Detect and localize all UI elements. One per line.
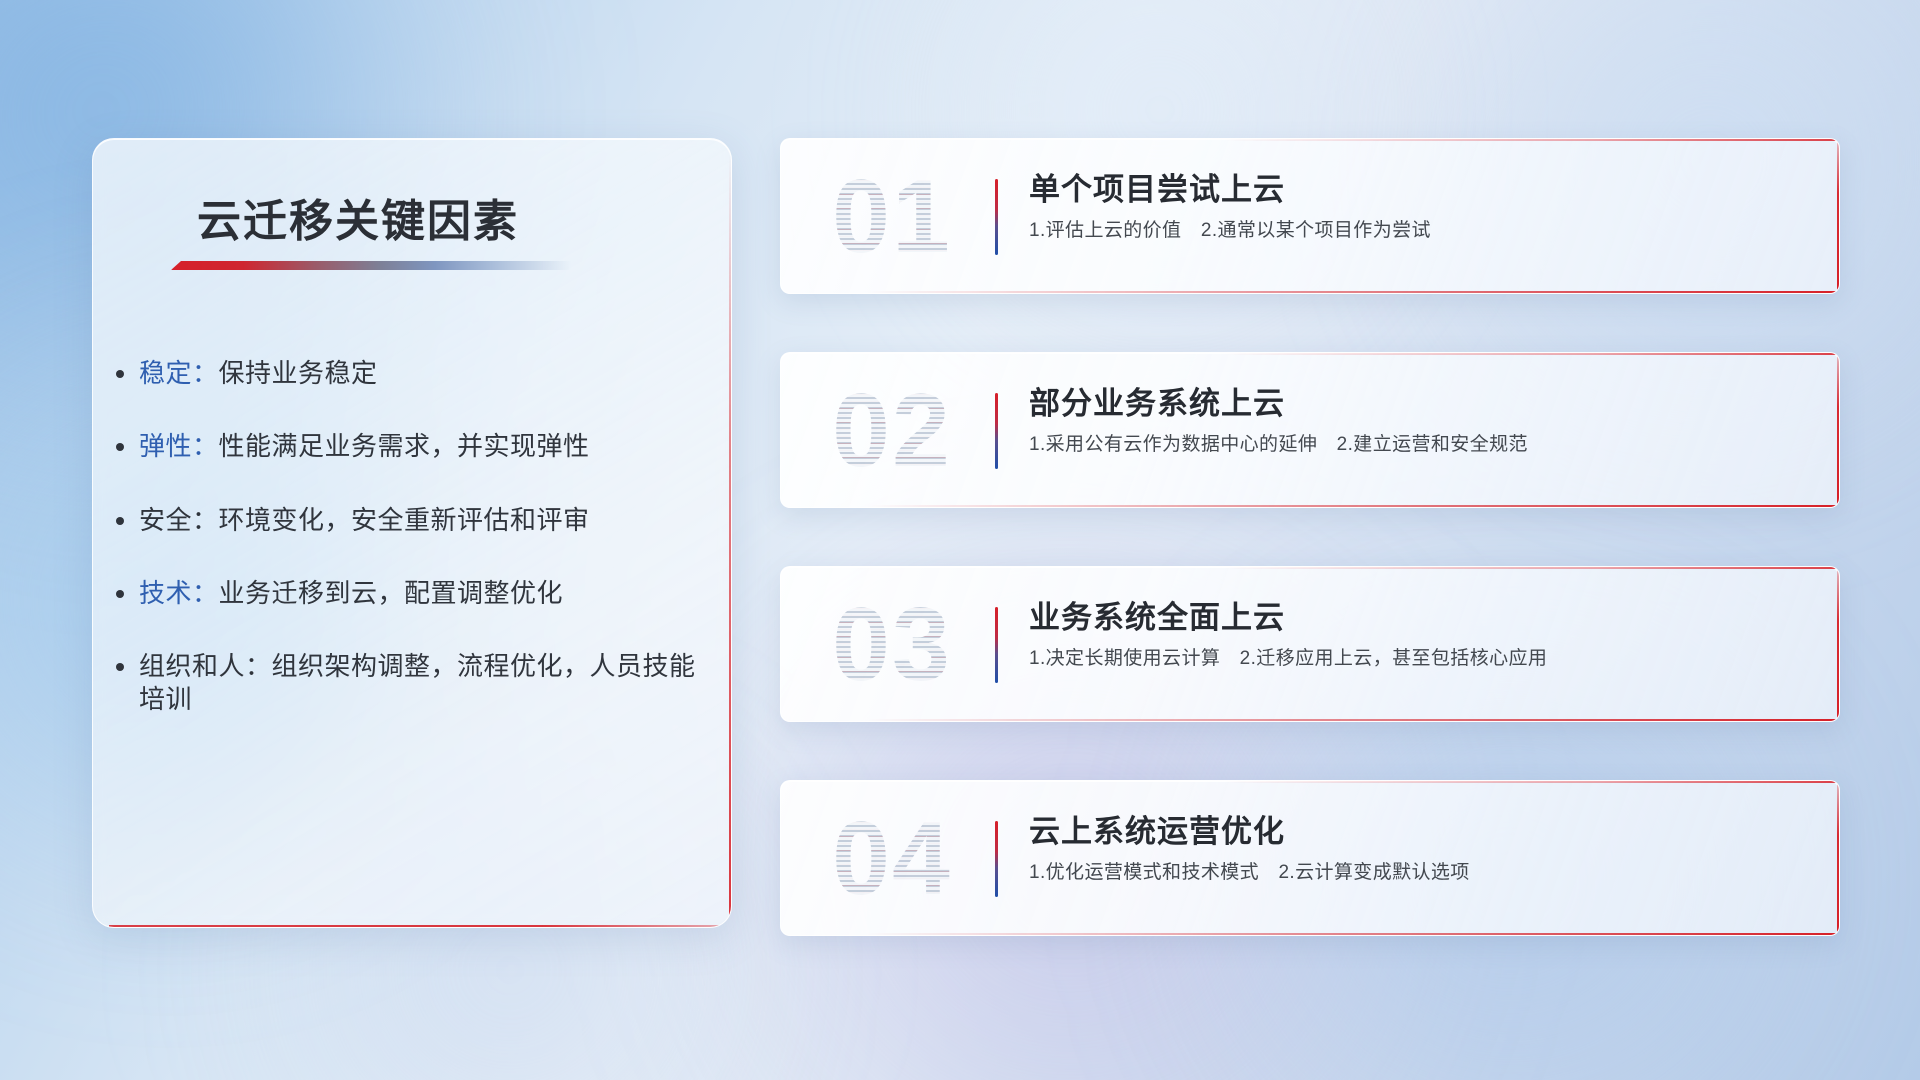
key-factor-item: 安全：环境变化，安全重新评估和评审 bbox=[139, 504, 697, 537]
step-title: 云上系统运营优化 bbox=[1029, 813, 1811, 851]
step-body: 单个项目尝试上云1.评估上云的价值 2.通常以某个项目作为尝试 bbox=[1029, 171, 1811, 244]
card-bottom-accent bbox=[866, 933, 1839, 935]
card-bottom-accent bbox=[866, 291, 1839, 293]
step-description: 1.决定长期使用云计算 2.迁移应用上云，甚至包括核心应用 bbox=[1029, 647, 1811, 672]
card-right-accent bbox=[1837, 781, 1839, 935]
key-factor-item: 技术：业务迁移到云，配置调整优化 bbox=[139, 577, 697, 610]
step-number-glyph: 01 bbox=[817, 153, 967, 281]
card-top-accent bbox=[1225, 139, 1839, 141]
card-top-accent bbox=[1225, 567, 1839, 569]
key-factor-item: 稳定：保持业务稳定 bbox=[139, 357, 697, 390]
step-body: 云上系统运营优化1.优化运营模式和技术模式 2.云计算变成默认选项 bbox=[1029, 813, 1811, 886]
key-factors-panel: 云迁移关键因素 稳定：保持业务稳定弹性：性能满足业务需求，并实现弹性安全：环境变… bbox=[92, 138, 732, 928]
slide-stage: 云迁移关键因素 稳定：保持业务稳定弹性：性能满足业务需求，并实现弹性安全：环境变… bbox=[0, 0, 1920, 1080]
step-number-glyph: 02 bbox=[817, 367, 967, 495]
step-body: 部分业务系统上云1.采用公有云作为数据中心的延伸 2.建立运营和安全规范 bbox=[1029, 385, 1811, 458]
key-factors-list: 稳定：保持业务稳定弹性：性能满足业务需求，并实现弹性安全：环境变化，安全重新评估… bbox=[139, 357, 697, 717]
title-underline-gradient bbox=[171, 261, 571, 270]
migration-step-card[interactable]: 03业务系统全面上云1.决定长期使用云计算 2.迁移应用上云，甚至包括核心应用 bbox=[780, 566, 1840, 722]
step-accent-bar bbox=[995, 821, 998, 897]
page-title: 云迁移关键因素 bbox=[197, 185, 519, 249]
step-body: 业务系统全面上云1.决定长期使用云计算 2.迁移应用上云，甚至包括核心应用 bbox=[1029, 599, 1811, 672]
migration-step-card[interactable]: 02部分业务系统上云1.采用公有云作为数据中心的延伸 2.建立运营和安全规范 bbox=[780, 352, 1840, 508]
key-factor-label: 技术： bbox=[139, 578, 219, 608]
key-factor-label: 弹性： bbox=[139, 431, 219, 461]
step-accent-bar bbox=[995, 179, 998, 255]
key-factor-value: 业务迁移到云，配置调整优化 bbox=[219, 578, 564, 608]
step-accent-bar bbox=[995, 607, 998, 683]
key-factor-value: 保持业务稳定 bbox=[219, 358, 378, 388]
key-factor-label: 组织和人： bbox=[139, 651, 272, 681]
step-accent-bar bbox=[995, 393, 998, 469]
card-right-accent bbox=[1837, 353, 1839, 507]
step-number-glyph: 03 bbox=[817, 581, 967, 709]
migration-step-card[interactable]: 04云上系统运营优化1.优化运营模式和技术模式 2.云计算变成默认选项 bbox=[780, 780, 1840, 936]
card-right-accent bbox=[1837, 139, 1839, 293]
step-title: 部分业务系统上云 bbox=[1029, 385, 1811, 423]
card-top-accent bbox=[1225, 353, 1839, 355]
card-bottom-accent bbox=[866, 505, 1839, 507]
key-factor-label: 安全： bbox=[139, 505, 219, 535]
migration-steps-list: 01单个项目尝试上云1.评估上云的价值 2.通常以某个项目作为尝试02部分业务系… bbox=[780, 138, 1840, 936]
step-title: 单个项目尝试上云 bbox=[1029, 171, 1811, 209]
migration-step-card[interactable]: 01单个项目尝试上云1.评估上云的价值 2.通常以某个项目作为尝试 bbox=[780, 138, 1840, 294]
card-top-accent bbox=[1225, 781, 1839, 783]
card-bottom-accent bbox=[866, 719, 1839, 721]
step-description: 1.评估上云的价值 2.通常以某个项目作为尝试 bbox=[1029, 219, 1811, 244]
key-factor-item: 组织和人：组织架构调整，流程优化，人员技能培训 bbox=[139, 650, 697, 717]
step-title: 业务系统全面上云 bbox=[1029, 599, 1811, 637]
key-factor-item: 弹性：性能满足业务需求，并实现弹性 bbox=[139, 430, 697, 463]
step-description: 1.采用公有云作为数据中心的延伸 2.建立运营和安全规范 bbox=[1029, 433, 1811, 458]
card-right-accent bbox=[1837, 567, 1839, 721]
key-factor-label: 稳定： bbox=[139, 358, 219, 388]
key-factor-value: 性能满足业务需求，并实现弹性 bbox=[219, 431, 590, 461]
key-factor-value: 环境变化，安全重新评估和评审 bbox=[219, 505, 590, 535]
step-number-glyph: 04 bbox=[817, 795, 967, 923]
step-description: 1.优化运营模式和技术模式 2.云计算变成默认选项 bbox=[1029, 861, 1811, 886]
